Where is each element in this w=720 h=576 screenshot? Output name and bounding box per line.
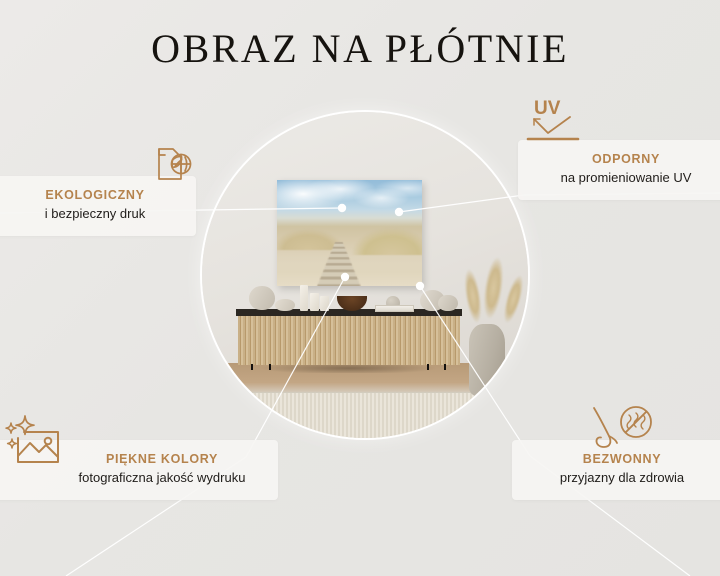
feature-uv[interactable]: UV ODPORNY na promieniowanie UV <box>518 140 720 200</box>
floor-rug <box>202 392 528 438</box>
feature-eco-subtitle: i bezpieczny druk <box>10 205 180 223</box>
decor-candle <box>320 296 328 311</box>
tall-floor-vase <box>469 324 505 396</box>
feature-uv-subtitle: na promieniowanie UV <box>534 169 718 187</box>
feature-colors-title: PIĘKNE KOLORY <box>62 451 262 467</box>
feature-eco[interactable]: EKOLOGICZNY i bezpieczny druk <box>0 176 196 236</box>
decor-candle <box>310 293 318 311</box>
sideboard-leg <box>444 364 446 370</box>
page-title: OBRAZ NA PŁÓTNIE <box>0 26 720 72</box>
uv-icon-label: UV <box>534 98 561 119</box>
nose-no-odor-icon <box>582 402 658 465</box>
feature-colors[interactable]: PIĘKNE KOLORY fotograficzna jakość wydru… <box>0 440 278 500</box>
decor-vase-large <box>249 286 275 309</box>
hero-circle-photo <box>202 112 528 438</box>
decor-books <box>375 305 414 312</box>
eco-document-globe-leaf-icon <box>148 140 196 193</box>
canvas-artwork <box>277 180 422 286</box>
artwork-sky <box>277 180 422 220</box>
decor-bowl-small <box>275 299 295 311</box>
hero-alt-text: Salon z obrazem na płótnie przedstawiają… <box>0 0 1 1</box>
feature-odor[interactable]: BEZWONNY przyjazny dla zdrowia <box>512 440 720 500</box>
feature-uv-title: ODPORNY <box>534 151 718 167</box>
sideboard-leg <box>269 364 271 370</box>
photo-sparkle-icon <box>0 412 72 479</box>
sideboard-slats <box>238 316 460 364</box>
sideboard-leg <box>251 364 253 370</box>
sideboard-leg <box>427 364 429 370</box>
uv-resistant-icon: UV <box>522 95 596 152</box>
sideboard-furniture <box>238 309 460 364</box>
feature-odor-subtitle: przyjazny dla zdrowia <box>528 469 716 487</box>
feature-colors-subtitle: fotograficzna jakość wydruku <box>62 469 262 487</box>
infographic-canvas: OBRAZ NA PŁÓTNIE <box>0 0 720 576</box>
room-scene-image <box>202 112 528 438</box>
sideboard-shadow <box>231 365 466 373</box>
artwork-dune-right <box>347 221 422 255</box>
decor-vase-right <box>438 295 458 311</box>
decor-candle <box>300 285 308 311</box>
